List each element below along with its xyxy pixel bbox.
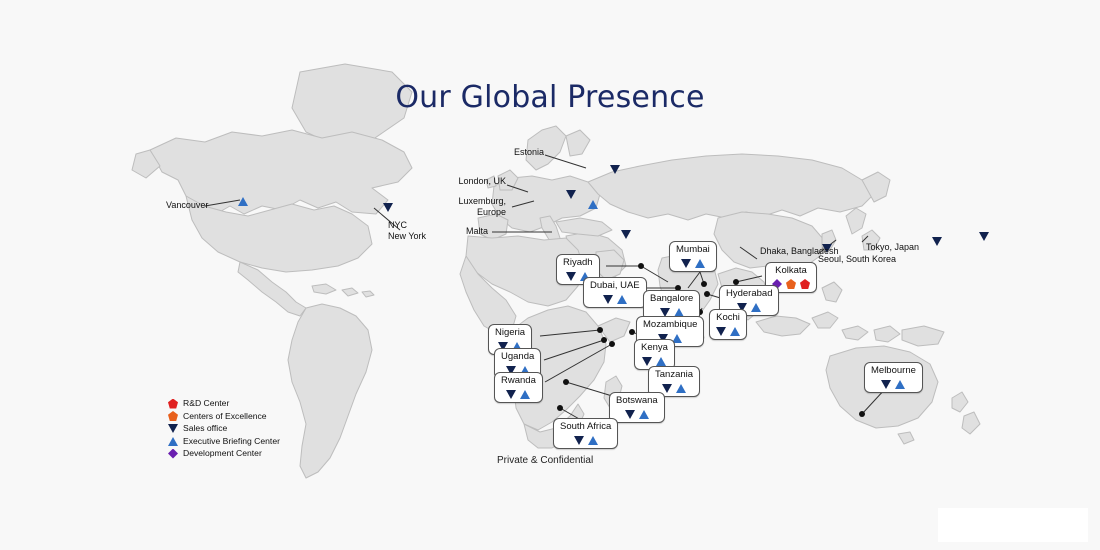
triangle-down-navy-icon <box>681 259 691 268</box>
world-map-graphic <box>0 0 1100 550</box>
legend-item-executive-briefing-center: Executive Briefing Center <box>166 436 280 447</box>
triangle-down-navy-icon <box>881 380 891 389</box>
confidentiality-footer: Private & Confidential <box>497 455 593 466</box>
triangle-up-blue-icon <box>656 357 666 366</box>
triangle-down-navy-icon <box>566 272 576 281</box>
marker-tokyo-sales <box>979 232 989 241</box>
triangle-up-blue-icon <box>639 410 649 419</box>
pentagon-orange-icon <box>166 411 180 422</box>
label-vancouver: Vancouver <box>166 200 206 211</box>
callout-rwanda[interactable]: Rwanda <box>494 372 543 403</box>
triangle-down-navy-icon <box>642 357 652 366</box>
callout-bangalore-label: Bangalore <box>650 293 693 304</box>
callout-kolkata-label: Kolkata <box>772 265 810 276</box>
marker-vancouver-ebc <box>238 197 248 206</box>
triangle-up-blue-icon <box>695 259 705 268</box>
callout-rwanda-icons <box>501 387 536 399</box>
legend-item-sales-office: Sales office <box>166 423 280 434</box>
marker-estonia-sales <box>610 165 620 174</box>
legend-label-rnd-center: R&D Center <box>183 398 229 409</box>
triangle-up-blue-icon <box>520 390 530 399</box>
legend-item-development-center: Development Center <box>166 448 280 459</box>
triangle-down-navy-icon <box>716 327 726 336</box>
callout-mumbai-icons <box>676 256 710 268</box>
triangle-up-blue-icon <box>588 436 598 445</box>
triangle-down-navy-icon <box>166 423 180 434</box>
callout-nigeria-label: Nigeria <box>495 327 525 338</box>
label-nyc: NYC New York <box>388 220 426 242</box>
marker-london-sales <box>566 190 576 199</box>
legend-item-centers-of-excellence: Centers of Excellence <box>166 411 280 422</box>
triangle-up-blue-icon <box>730 327 740 336</box>
callout-tanzania-icons <box>655 381 693 393</box>
callout-mumbai[interactable]: Mumbai <box>669 241 717 272</box>
callout-tanzania-label: Tanzania <box>655 369 693 380</box>
callout-south-africa-icons <box>560 433 611 445</box>
legend-item-rnd-center: R&D Center <box>166 398 280 409</box>
triangle-down-navy-icon <box>574 436 584 445</box>
callout-kochi-label: Kochi <box>716 312 740 323</box>
marker-seoul-sales <box>932 237 942 246</box>
callout-botswana[interactable]: Botswana <box>609 392 665 423</box>
pentagon-orange-icon <box>786 279 796 289</box>
callout-melbourne-icons <box>871 377 916 389</box>
pentagon-red-icon <box>166 398 180 409</box>
triangle-up-blue-icon <box>617 295 627 304</box>
callout-mozambique-label: Mozambique <box>643 319 697 330</box>
marker-luxemburg-ebc <box>588 200 598 209</box>
diamond-purple-icon <box>166 448 180 459</box>
callout-dubai-label: Dubai, UAE <box>590 280 640 291</box>
legend-label-development-center: Development Center <box>183 448 262 459</box>
callout-kochi[interactable]: Kochi <box>709 309 747 340</box>
callout-kenya-label: Kenya <box>641 342 668 353</box>
label-malta: Malta <box>448 226 488 237</box>
global-presence-map: Our Global Presence Vancouver NYC New Yo… <box>0 0 1100 550</box>
callout-botswana-label: Botswana <box>616 395 658 406</box>
label-seoul: Seoul, South Korea <box>818 254 896 265</box>
map-legend: R&D Center Centers of Excellence Sales o… <box>166 398 280 461</box>
legend-label-centers-of-excellence: Centers of Excellence <box>183 411 267 422</box>
marker-nyc-sales <box>383 203 393 212</box>
label-luxemburg: Luxemburg, Europe <box>440 196 506 218</box>
callout-botswana-icons <box>616 407 658 419</box>
callout-dubai-icons <box>590 292 640 304</box>
triangle-up-blue-icon <box>751 303 761 312</box>
bottom-right-blank-plate <box>938 508 1088 542</box>
label-tokyo: Tokyo, Japan <box>866 242 919 253</box>
label-london: London, UK <box>448 176 506 187</box>
label-estonia: Estonia <box>500 147 544 158</box>
marker-malta-sales <box>621 230 631 239</box>
triangle-down-navy-icon <box>506 390 516 399</box>
triangle-down-navy-icon <box>625 410 635 419</box>
callout-south-africa-label: South Africa <box>560 421 611 432</box>
triangle-down-navy-icon <box>662 384 672 393</box>
callout-kochi-icons <box>716 324 740 336</box>
callout-mumbai-label: Mumbai <box>676 244 710 255</box>
callout-rwanda-label: Rwanda <box>501 375 536 386</box>
callout-south-africa[interactable]: South Africa <box>553 418 618 449</box>
triangle-up-blue-icon <box>895 380 905 389</box>
triangle-up-blue-icon <box>676 384 686 393</box>
pentagon-red-icon <box>800 279 810 289</box>
callout-melbourne[interactable]: Melbourne <box>864 362 923 393</box>
triangle-down-navy-icon <box>603 295 613 304</box>
callout-dubai[interactable]: Dubai, UAE <box>583 277 647 308</box>
legend-label-executive-briefing-center: Executive Briefing Center <box>183 436 280 447</box>
callout-kenya-icons <box>641 354 668 366</box>
callout-hyderabad-label: Hyderabad <box>726 288 772 299</box>
legend-label-sales-office: Sales office <box>183 423 227 434</box>
triangle-up-blue-icon <box>166 436 180 447</box>
callout-riyadh-label: Riyadh <box>563 257 593 268</box>
callout-uganda-label: Uganda <box>501 351 534 362</box>
callout-melbourne-label: Melbourne <box>871 365 916 376</box>
